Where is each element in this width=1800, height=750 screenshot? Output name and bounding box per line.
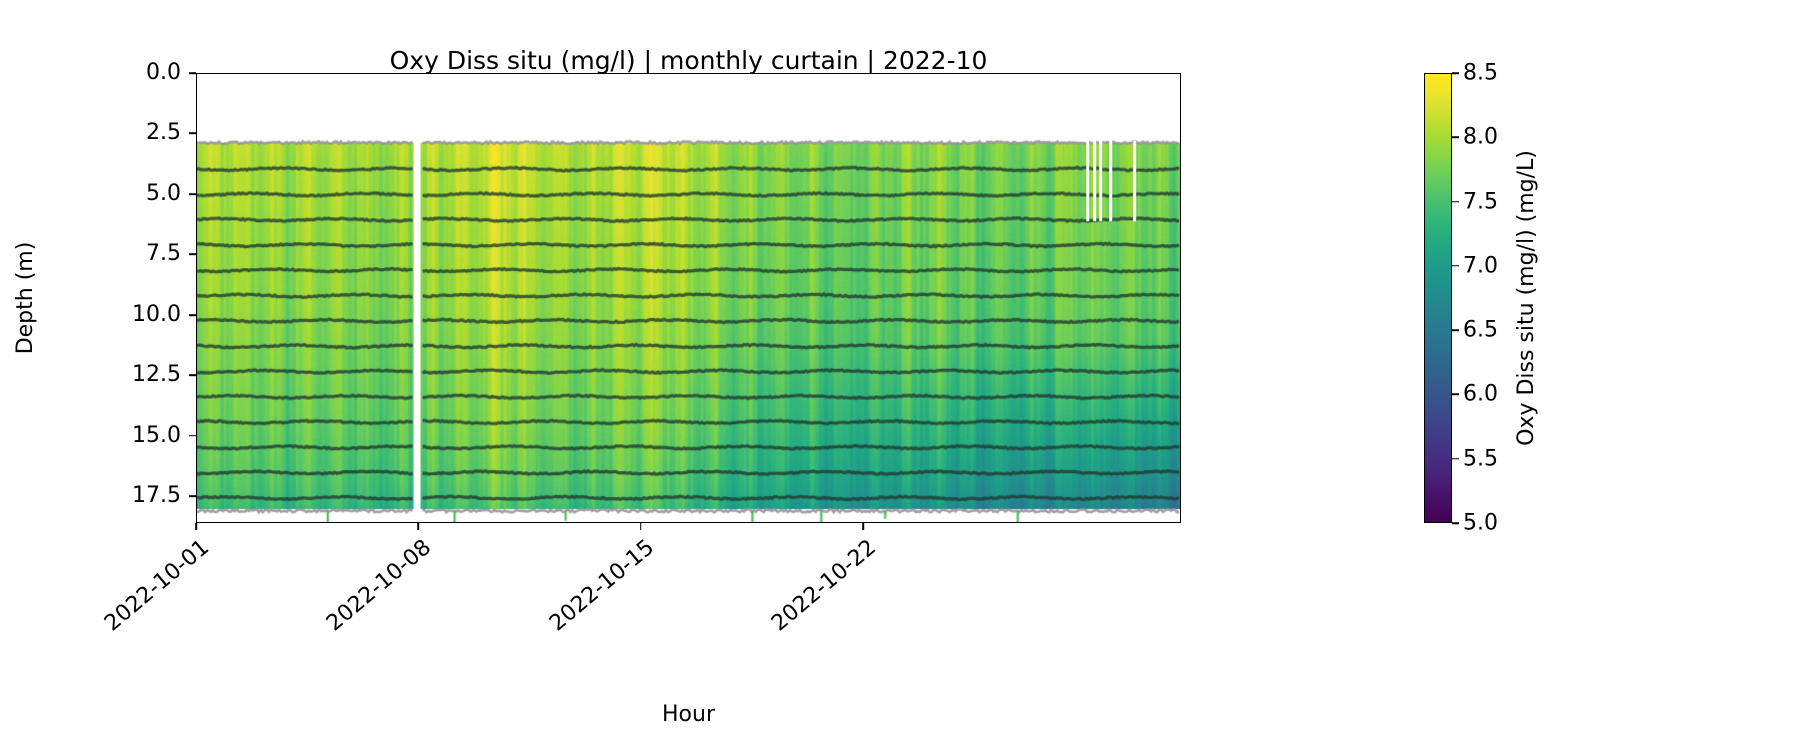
colorbar-tick-mark [1452, 329, 1459, 331]
y-tick-label: 10.0 [60, 304, 181, 326]
x-tick-label: 2022-10-01 [83, 535, 214, 651]
y-tick-label: 7.5 [60, 243, 181, 265]
x-tick-label: 2022-10-15 [528, 535, 659, 651]
y-tick-label: 0.0 [60, 62, 181, 84]
colorbar-tick-label: 8.5 [1463, 61, 1498, 86]
x-axis-label: Hour [196, 702, 1181, 727]
heatmap-axes[interactable] [196, 73, 1181, 523]
x-tick-mark [195, 523, 197, 530]
colorbar-tick-mark [1452, 522, 1459, 524]
colorbar-tick-label: 8.0 [1463, 125, 1498, 150]
colorbar-tick-label: 6.5 [1463, 318, 1498, 343]
colorbar-tick-mark [1452, 394, 1459, 396]
x-tick-mark [640, 523, 642, 530]
y-tick-mark [189, 193, 196, 195]
colorbar-label: Oxy Diss situ (mg/l) (mg/L) [1514, 150, 1539, 446]
y-tick-mark [189, 375, 196, 377]
y-tick-mark [189, 254, 196, 256]
y-tick-label: 2.5 [60, 122, 181, 144]
heatmap-canvas[interactable] [197, 74, 1180, 522]
y-tick-label: 12.5 [60, 364, 181, 386]
colorbar-tick-mark [1452, 201, 1459, 203]
figure: Oxy Diss situ (mg/l) | monthly curtain |… [0, 0, 1800, 750]
y-tick-label: 15.0 [60, 425, 181, 447]
y-tick-mark [189, 314, 196, 316]
x-tick-mark [862, 523, 864, 530]
y-tick-mark [189, 496, 196, 498]
colorbar-tick-mark [1452, 265, 1459, 267]
x-tick-label: 2022-10-22 [750, 535, 881, 651]
y-tick-mark [189, 72, 196, 74]
colorbar-tick-label: 5.5 [1463, 446, 1498, 471]
colorbar-tick-label: 7.5 [1463, 189, 1498, 214]
colorbar[interactable] [1424, 73, 1452, 523]
y-tick-label: 5.0 [60, 183, 181, 205]
y-tick-mark [189, 133, 196, 135]
y-axis-label: Depth (m) [13, 242, 38, 355]
colorbar-tick-label: 5.0 [1463, 511, 1498, 536]
colorbar-tick-mark [1452, 72, 1459, 74]
y-tick-label: 17.5 [60, 485, 181, 507]
x-tick-label: 2022-10-08 [305, 535, 436, 651]
colorbar-tick-label: 7.0 [1463, 253, 1498, 278]
colorbar-gradient [1425, 74, 1451, 522]
colorbar-tick-label: 6.0 [1463, 382, 1498, 407]
colorbar-tick-mark [1452, 458, 1459, 460]
x-tick-mark [418, 523, 420, 530]
colorbar-tick-mark [1452, 137, 1459, 139]
y-tick-mark [189, 435, 196, 437]
chart-title: Oxy Diss situ (mg/l) | monthly curtain |… [196, 46, 1181, 75]
